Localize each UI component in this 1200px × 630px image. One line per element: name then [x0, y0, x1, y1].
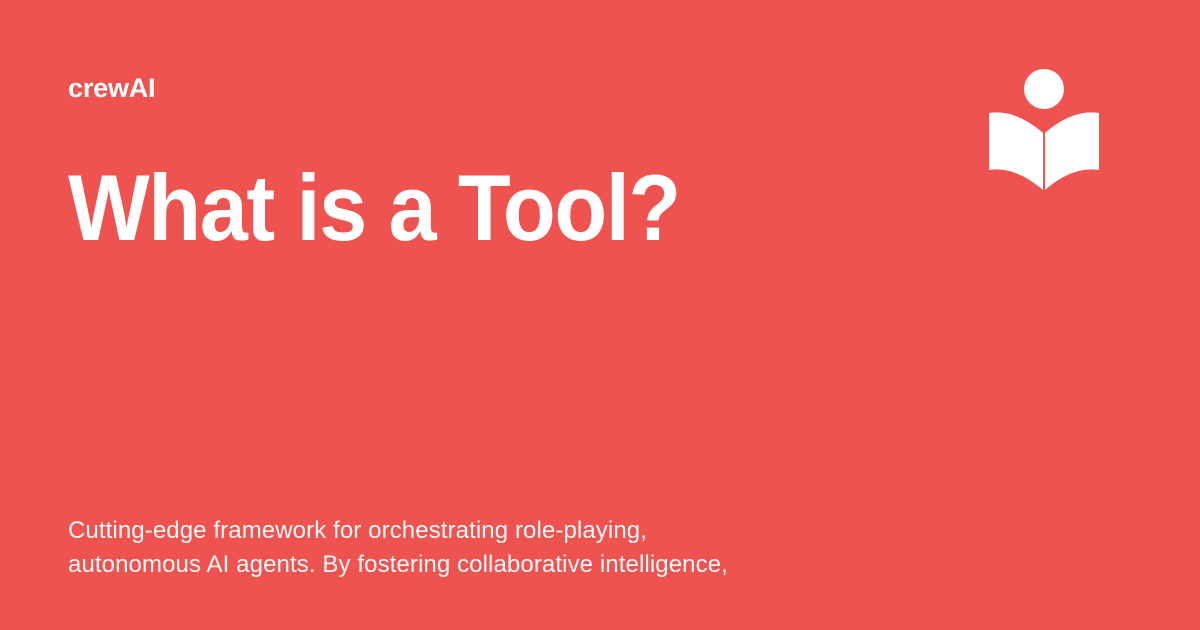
brand-name: crewAI — [68, 71, 155, 105]
open-graph-card: crewAI What is a Tool? Cutting-edge fram… — [0, 0, 1200, 630]
page-description: Cutting-edge framework for orchestrating… — [68, 514, 968, 582]
page-description-line: Cutting-edge framework for orchestrating… — [68, 514, 968, 548]
page-description-line: autonomous AI agents. By fostering colla… — [68, 548, 968, 582]
page-title: What is a Tool? — [68, 156, 896, 260]
open-book-reader-icon — [984, 62, 1104, 194]
